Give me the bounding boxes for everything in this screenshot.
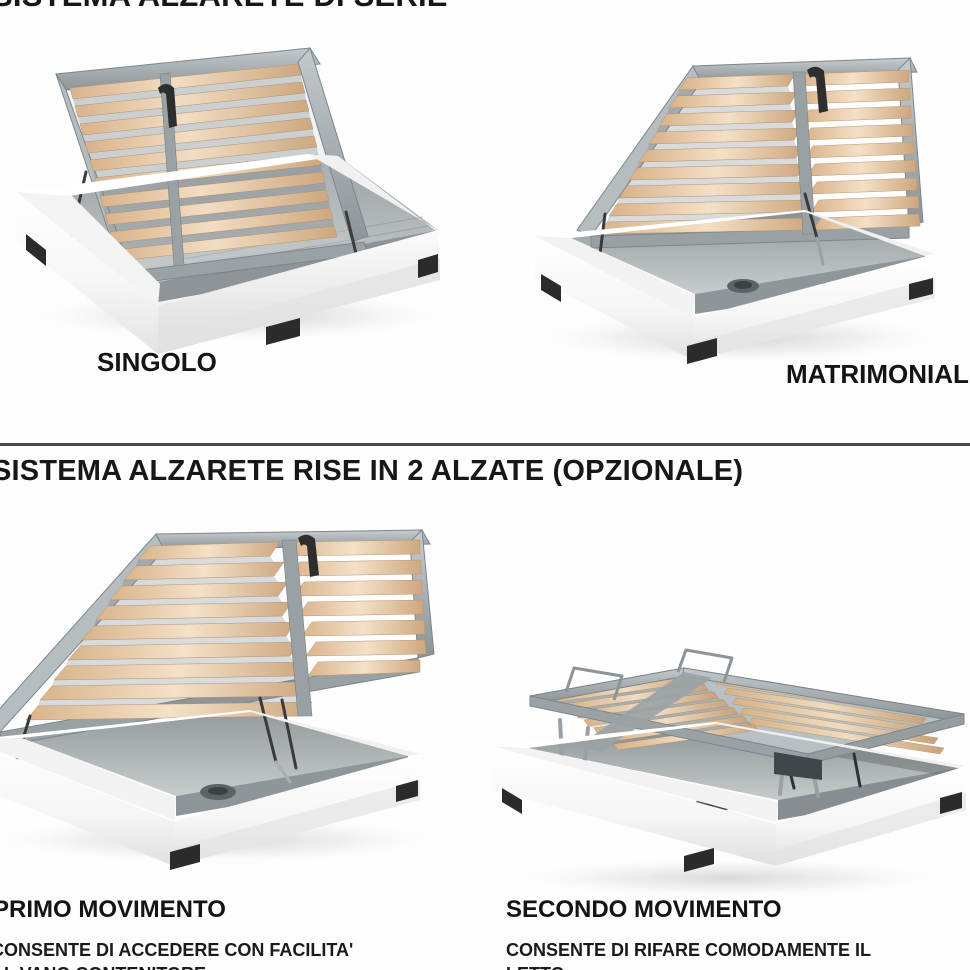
illustration-bed-primo-movimento (0, 500, 470, 870)
description-secondo-movimento: CONSENTE DI RIFARE COMODAMENTE IL LETTO (506, 938, 871, 970)
catalog-page: SISTEMA ALZARETE DI SERIE (0, 0, 970, 970)
description-line-1: CONSENTE DI RIFARE COMODAMENTE IL (506, 938, 871, 962)
illustration-bed-singolo (8, 44, 468, 354)
description-line-2: LETTO (506, 962, 871, 970)
description-line-1: CONSENTE DI ACCEDERE CON FACILITA' (0, 938, 353, 962)
section-title-rise: SISTEMA ALZARETE RISE IN 2 ALZATE (OPZIO… (0, 455, 743, 488)
description-line-2: AL VANO CONTENITORE (0, 962, 353, 970)
caption-primo-movimento: PRIMO MOVIMENTO (0, 896, 226, 924)
description-primo-movimento: CONSENTE DI ACCEDERE CON FACILITA' AL VA… (0, 938, 353, 970)
illustration-bed-secondo-movimento (488, 628, 970, 900)
section-divider (0, 443, 970, 446)
caption-secondo-movimento: SECONDO MOVIMENTO (506, 896, 782, 924)
illustration-bed-matrimoniale (505, 42, 970, 372)
caption-singolo: SINGOLO (97, 347, 217, 378)
section-title-serie: SISTEMA ALZARETE DI SERIE (0, 0, 448, 14)
caption-matrimoniale: MATRIMONIALE (786, 359, 970, 390)
